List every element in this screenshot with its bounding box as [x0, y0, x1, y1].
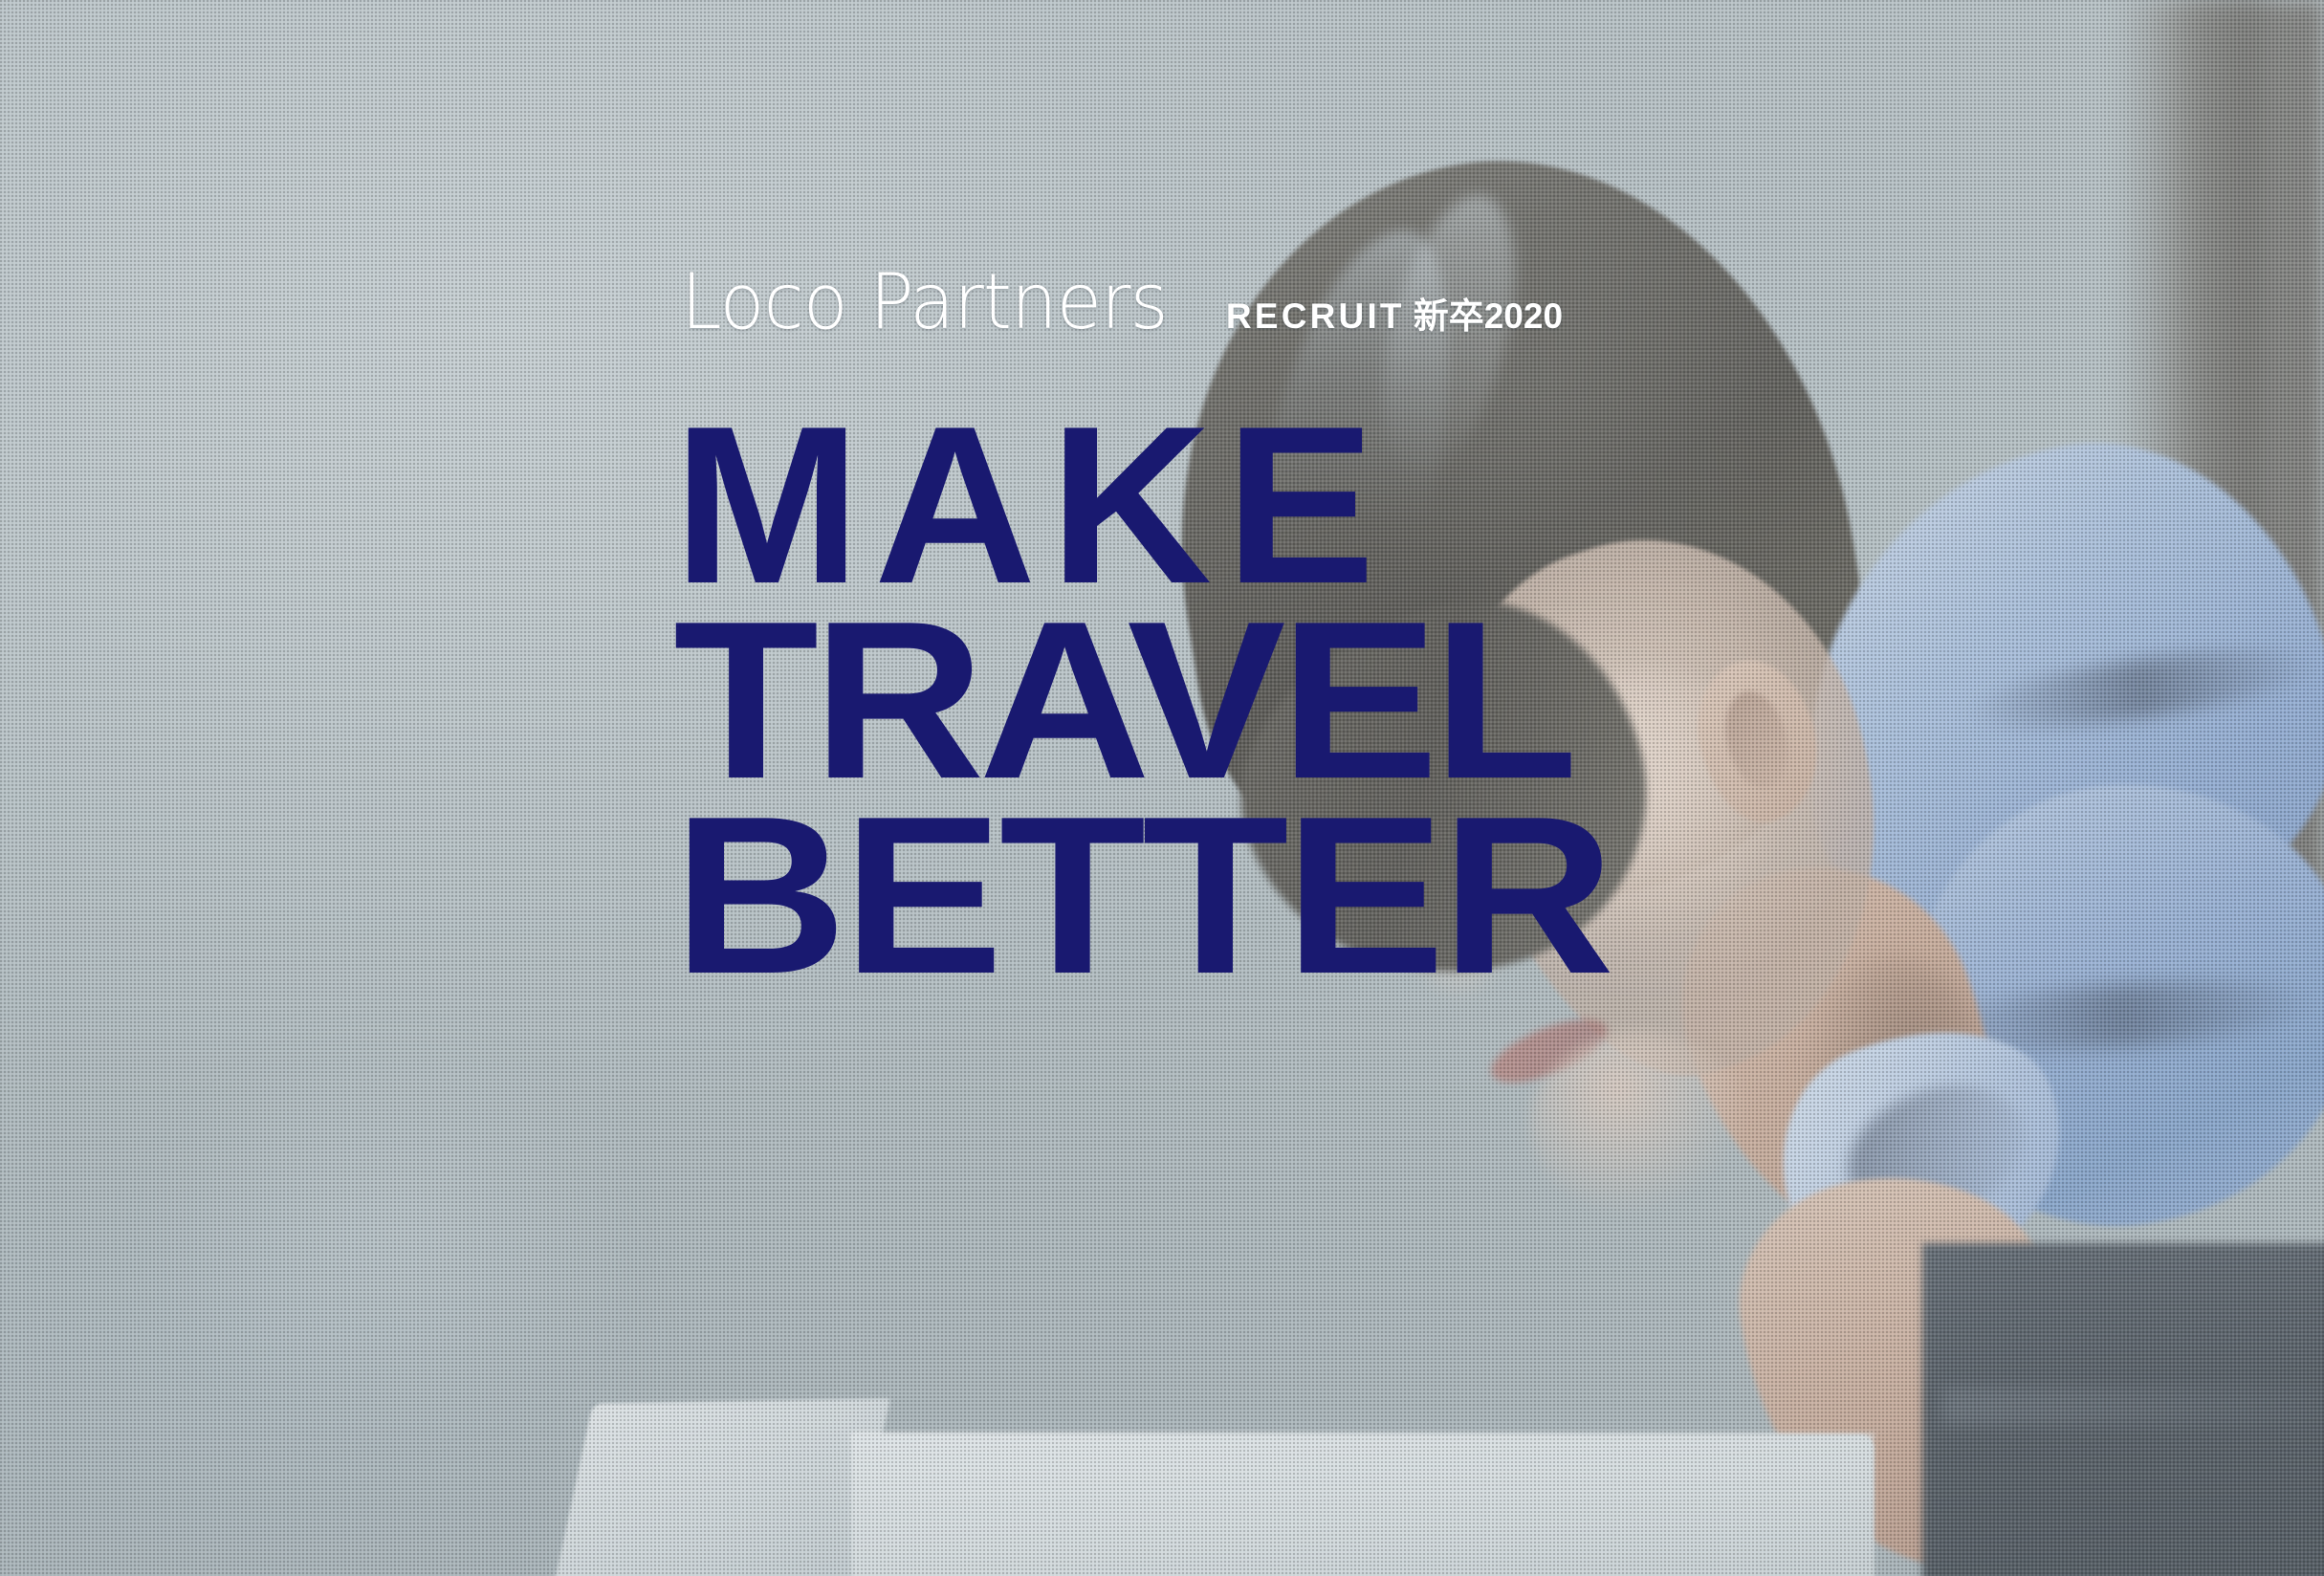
headline-line-better: BETTER: [673, 805, 1611, 985]
hero-banner: Loco Partners RECRUIT新卒2020 MAKE TRAVEL …: [0, 0, 2324, 1576]
loco-partners-wordmark[interactable]: Loco Partners: [681, 264, 1168, 340]
headline-line-travel: TRAVEL: [673, 610, 1602, 790]
headline-line-make: MAKE: [673, 415, 1549, 595]
recruit-label: RECRUIT: [1226, 296, 1405, 336]
recruit-tagline: RECRUIT新卒2020: [1226, 298, 1563, 334]
hero-headline: MAKE TRAVEL BETTER: [673, 415, 1549, 985]
hero-content: Loco Partners RECRUIT新卒2020 MAKE TRAVEL …: [0, 0, 2324, 1576]
recruit-year-jp: 新卒2020: [1414, 296, 1563, 336]
brand-bar: Loco Partners RECRUIT新卒2020: [681, 264, 1563, 340]
